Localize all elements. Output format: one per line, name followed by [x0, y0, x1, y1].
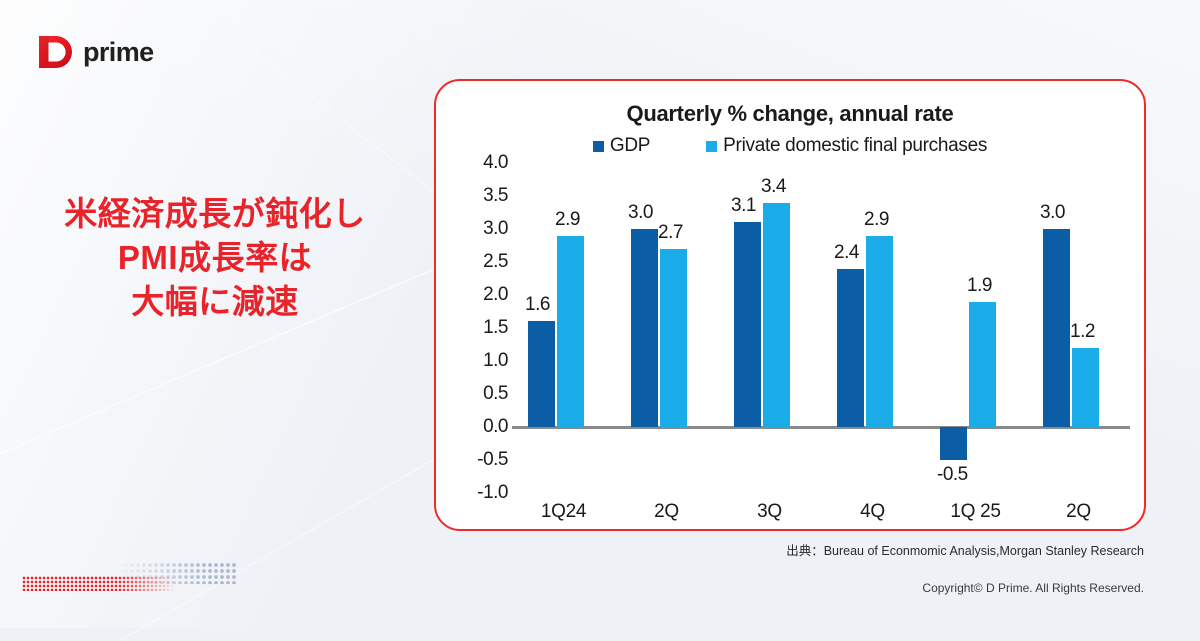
halftone-red-band: [22, 576, 177, 591]
chart-plot-area: 4.03.53.02.52.01.51.00.50.0-0.5-1.0 1.62…: [436, 163, 1144, 493]
y-axis-tick: 2.0: [483, 284, 508, 306]
bar-value-label: -0.5: [937, 464, 968, 486]
y-axis-tick: 0.0: [483, 416, 508, 438]
bar-gdp[interactable]: [1043, 229, 1070, 427]
bar-group: 3.01.2: [1027, 163, 1130, 493]
y-axis-tick: 3.5: [483, 185, 508, 207]
legend-swatch-icon: [706, 141, 717, 152]
bar-value-label: 3.0: [628, 202, 653, 224]
bar-value-label: 2.4: [834, 242, 859, 264]
bar-value-label: 2.9: [864, 209, 889, 231]
bar-group: 3.02.7: [615, 163, 718, 493]
legend-swatch-icon: [593, 141, 604, 152]
bar-value-label: 1.2: [1070, 321, 1095, 343]
y-axis-tick: 4.0: [483, 152, 508, 174]
headline-line-3: 大幅に減速: [0, 280, 430, 324]
bar-group: 2.42.9: [821, 163, 924, 493]
bar-value-label: 1.6: [525, 294, 550, 316]
x-axis-tick-label: 2Q: [615, 501, 718, 523]
bar-pdfp[interactable]: [763, 203, 790, 427]
headline: 米経済成長が鈍化し PMI成長率は 大幅に減速: [0, 192, 430, 324]
y-axis-tick: 0.5: [483, 383, 508, 405]
bar-gdp[interactable]: [631, 229, 658, 427]
bar-pdfp[interactable]: [557, 236, 584, 427]
copyright-note: Copyright© D Prime. All Rights Reserved.: [922, 581, 1144, 595]
chart-card: Quarterly % change, annual rate GDPPriva…: [434, 79, 1146, 531]
bar-pdfp[interactable]: [969, 302, 996, 427]
x-axis-tick-label: 1Q24: [512, 501, 615, 523]
y-axis-tick: 3.0: [483, 218, 508, 240]
x-axis-tick-label: 4Q: [821, 501, 924, 523]
x-axis-tick-label: 1Q 25: [924, 501, 1027, 523]
bar-value-label: 2.7: [658, 222, 683, 244]
bar-group: 1.62.9: [512, 163, 615, 493]
plot-canvas: 1.62.93.02.73.13.42.42.9-0.51.93.01.2: [512, 163, 1130, 493]
source-note: 出典：Bureau of Econmomic Analysis,Morgan S…: [786, 540, 1144, 559]
bar-gdp[interactable]: [940, 427, 967, 460]
x-axis: 1Q242Q3Q4Q1Q 252Q: [512, 501, 1130, 523]
chart-legend: GDPPrivate domestic final purchases: [436, 135, 1144, 157]
bar-pdfp[interactable]: [1072, 348, 1099, 427]
bar-groups: 1.62.93.02.73.13.42.42.9-0.51.93.01.2: [512, 163, 1130, 493]
legend-item-gdp[interactable]: GDP: [593, 135, 650, 157]
legend-label: Private domestic final purchases: [723, 135, 987, 157]
bar-value-label: 1.9: [967, 275, 992, 297]
y-axis-tick: 2.5: [483, 251, 508, 273]
headline-line-1: 米経済成長が鈍化し: [0, 192, 430, 236]
y-axis-tick: -0.5: [477, 449, 508, 471]
bar-value-label: 2.9: [555, 209, 580, 231]
bar-group: -0.51.9: [924, 163, 1027, 493]
bar-value-label: 3.1: [731, 195, 756, 217]
headline-line-2: PMI成長率は: [0, 236, 430, 280]
decorative-halftone: [22, 562, 237, 594]
bar-gdp[interactable]: [837, 269, 864, 427]
y-axis-tick: -1.0: [477, 482, 508, 504]
bar-gdp[interactable]: [528, 321, 555, 427]
brand-wordmark: prime: [83, 37, 154, 68]
bar-value-label: 3.4: [761, 176, 786, 198]
bar-pdfp[interactable]: [660, 249, 687, 427]
brand-logo: prime: [36, 33, 154, 71]
y-axis-tick: 1.5: [483, 317, 508, 339]
y-axis: 4.03.53.02.52.01.51.00.50.0-0.5-1.0: [452, 163, 508, 493]
bar-value-label: 3.0: [1040, 202, 1065, 224]
bar-pdfp[interactable]: [866, 236, 893, 427]
x-axis-tick-label: 3Q: [718, 501, 821, 523]
legend-label: GDP: [610, 135, 650, 157]
x-axis-tick-label: 2Q: [1027, 501, 1130, 523]
bar-gdp[interactable]: [734, 222, 761, 427]
bar-group: 3.13.4: [718, 163, 821, 493]
y-axis-tick: 1.0: [483, 350, 508, 372]
legend-item-pdfp[interactable]: Private domestic final purchases: [706, 135, 987, 157]
d-prime-logo-icon: [36, 33, 74, 71]
chart-title: Quarterly % change, annual rate: [436, 101, 1144, 127]
